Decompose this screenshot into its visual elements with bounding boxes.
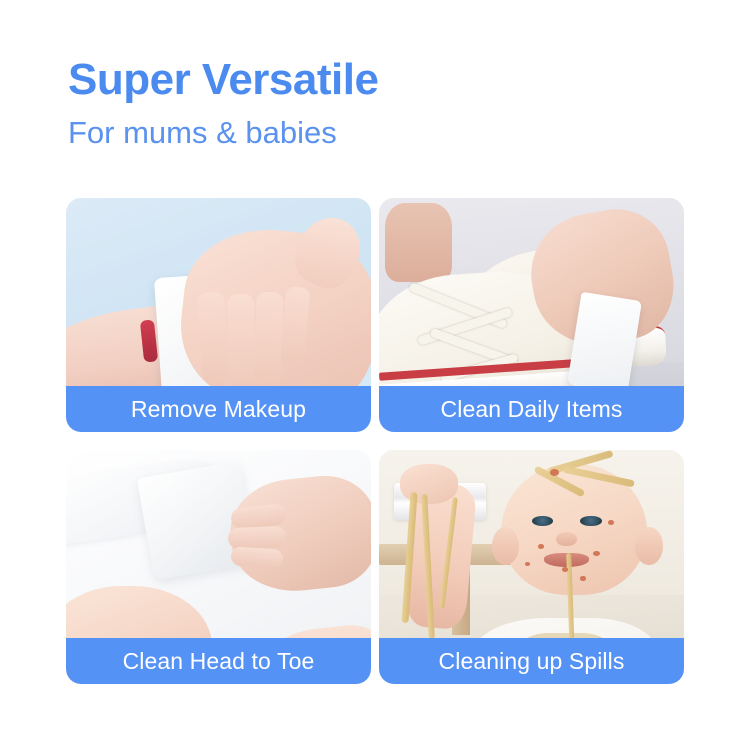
- sauce-splatter: [562, 567, 568, 572]
- card-label: Remove Makeup: [131, 396, 306, 423]
- card-banner: Clean Head to Toe: [66, 638, 371, 684]
- baby-fist-shape: [400, 464, 458, 504]
- sauce-splatter: [608, 520, 614, 525]
- page-subtitle: For mums & babies: [68, 114, 688, 151]
- card-label: Clean Head to Toe: [123, 648, 315, 675]
- card-banner: Cleaning up Spills: [379, 638, 684, 684]
- use-case-card-clean-daily-items[interactable]: Clean Daily Items: [379, 198, 684, 432]
- sauce-splatter: [580, 576, 585, 580]
- baby-ear-shape: [492, 527, 519, 564]
- baby-eye-shape: [580, 516, 601, 527]
- sauce-splatter: [538, 544, 545, 549]
- card-banner: Remove Makeup: [66, 386, 371, 432]
- card-banner: Clean Daily Items: [379, 386, 684, 432]
- finger-shape: [230, 546, 283, 568]
- baby-eye-shape: [532, 516, 553, 527]
- sauce-splatter: [593, 551, 600, 557]
- card-label: Cleaning up Spills: [439, 648, 625, 675]
- use-case-card-cleaning-up-spills[interactable]: Cleaning up Spills: [379, 450, 684, 684]
- finger-shape: [227, 294, 256, 393]
- infographic-page: Super Versatile For mums & babies Remove…: [0, 0, 750, 750]
- baby-nose-shape: [556, 532, 577, 546]
- header: Super Versatile For mums & babies: [68, 56, 688, 151]
- page-title: Super Versatile: [68, 56, 688, 104]
- use-case-card-remove-makeup[interactable]: Remove Makeup: [66, 198, 371, 432]
- card-label: Clean Daily Items: [441, 396, 623, 423]
- baby-ear-shape: [635, 527, 662, 564]
- sauce-splatter: [550, 469, 559, 476]
- finger-shape: [253, 291, 284, 385]
- use-case-card-clean-head-to-toe[interactable]: Clean Head to Toe: [66, 450, 371, 684]
- finger-shape: [227, 526, 286, 549]
- ankle-shape: [385, 203, 452, 283]
- use-case-grid: Remove Makeup Clean Daily Items: [66, 198, 684, 684]
